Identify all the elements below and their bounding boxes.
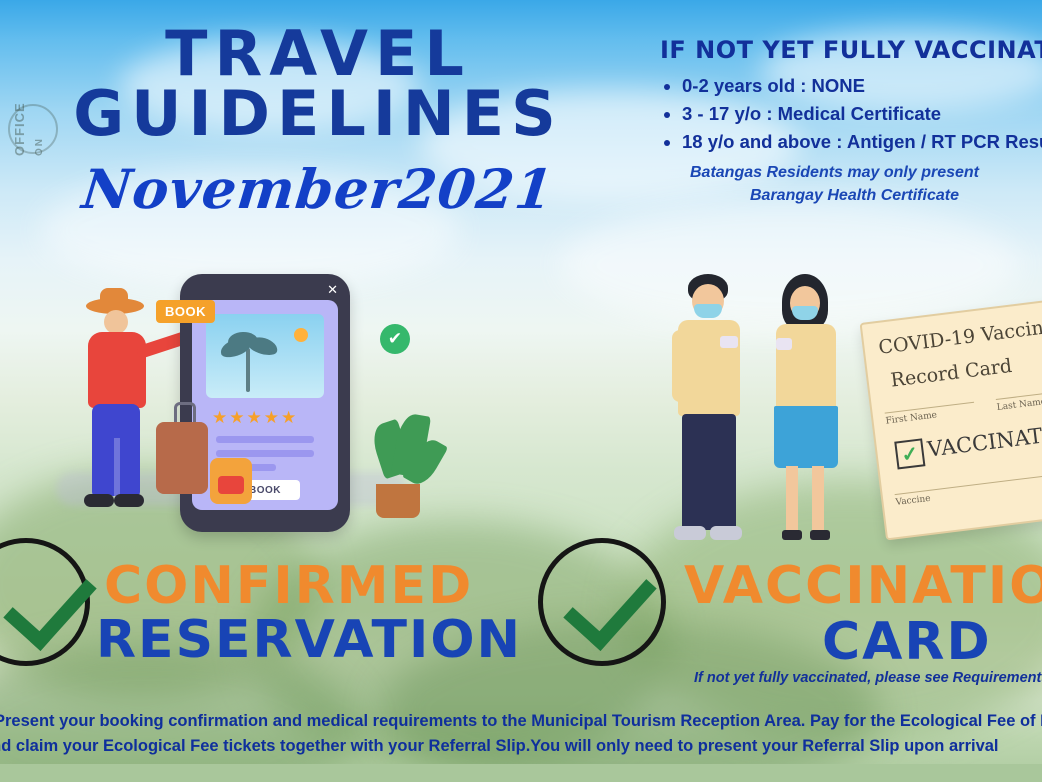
list-item: 3 - 17 y/o : Medical Certificate [682, 100, 1042, 128]
card-field-vaccine: Vaccine [895, 494, 931, 508]
card-vaccinated-label: VACCINATED [926, 420, 1042, 462]
vaccination-record-card: COVID-19 Vaccination Record Card First N… [860, 295, 1042, 541]
woman-top [776, 324, 836, 410]
woman-skirt [774, 406, 838, 468]
bottom-strip [0, 764, 1042, 782]
traveler-shoe [114, 494, 144, 507]
list-item: 0-2 years old : NONE [682, 72, 1042, 100]
book-tag-label: BOOK [156, 300, 215, 323]
banner-line-1: Present your booking confirmation and me… [0, 709, 1042, 735]
requirements-note: Batangas Residents may only present Bara… [660, 161, 1042, 207]
travel-guidelines-poster: OFFICE ON TRAVEL GUIDELINES November2021… [0, 0, 1042, 782]
requirements-block: IF NOT YET FULLY VACCINATED 0-2 years ol… [660, 36, 1042, 208]
man-figure [670, 274, 750, 552]
badge-vaccination-line-2: CARD [822, 612, 992, 672]
requirements-list: 0-2 years old : NONE 3 - 17 y/o : Medica… [660, 72, 1042, 155]
badge-vaccination-line-1: VACCINATION [684, 556, 1042, 616]
bottom-banner: Present your booking confirmation and me… [0, 709, 1042, 760]
traveler-torso [88, 332, 146, 408]
card-title-line-2: Record Card [889, 355, 1013, 392]
sun-icon [294, 328, 308, 342]
traveler-figure [78, 288, 168, 538]
vaccine-bandage [776, 338, 792, 350]
title-date-script: November2021 [55, 157, 582, 221]
badge-vaccination-note: If not yet fully vaccinated, please see … [694, 670, 1042, 686]
traveler-leg-split [114, 438, 120, 498]
vaccine-bandage [720, 336, 738, 348]
banner-line-2: and claim your Ecological Fee tickets to… [0, 734, 1042, 760]
plant-pot [376, 484, 420, 518]
close-icon: ✕ [327, 282, 338, 298]
card-rule [895, 472, 1042, 495]
requirements-heading: IF NOT YET FULLY VACCINATED [660, 36, 1042, 64]
woman-figure [768, 274, 848, 552]
woman-heel [782, 530, 802, 540]
badge-confirmed-line-2: RESERVATION [96, 610, 522, 670]
checkbox-checked-icon: ✓ [894, 438, 925, 469]
placeholder-bar [216, 436, 314, 443]
rating-stars-icon: ★★★★★ [212, 408, 318, 428]
face-mask-icon [694, 304, 722, 318]
man-shoe [710, 526, 742, 540]
card-title-line-1: COVID-19 Vaccination [877, 311, 1042, 359]
card-field-last-name: Last Name [996, 397, 1042, 413]
vaccination-illustration: COVID-19 Vaccination Record Card First N… [660, 268, 1042, 558]
traveler-head [104, 310, 128, 334]
card-field-first-name: First Name [885, 410, 937, 426]
woman-leg [812, 466, 824, 532]
woman-leg [786, 466, 798, 532]
check-icon: ✔ [380, 324, 410, 354]
placeholder-bar [216, 450, 314, 457]
badge-confirmed-line-1: CONFIRMED [104, 556, 473, 616]
booking-illustration: ✕ ★★★★★ BOOK BOOK ✔ [60, 262, 460, 542]
destination-image [206, 314, 324, 398]
watermark-ring-icon [8, 104, 58, 154]
requirements-note-line-1: Batangas Residents may only present [690, 164, 979, 181]
man-arm [672, 330, 690, 402]
face-mask-icon [792, 306, 818, 320]
requirements-note-line-2: Barangay Health Certificate [690, 184, 1042, 207]
suitcase [156, 422, 208, 494]
hat-crown [100, 288, 128, 304]
man-pants [682, 414, 736, 530]
title-line-2: GUIDELINES [58, 84, 578, 144]
traveler-shoe [84, 494, 114, 507]
backpack-pocket [218, 476, 244, 494]
palm-trunk [246, 348, 250, 392]
man-shoe [674, 526, 706, 540]
list-item: 18 y/o and above : Antigen / RT PCR Resu… [682, 128, 1042, 156]
woman-heel [810, 530, 830, 540]
poster-title-block: TRAVEL GUIDELINES November2021 [58, 24, 578, 221]
title-line-1: TRAVEL [58, 24, 578, 84]
